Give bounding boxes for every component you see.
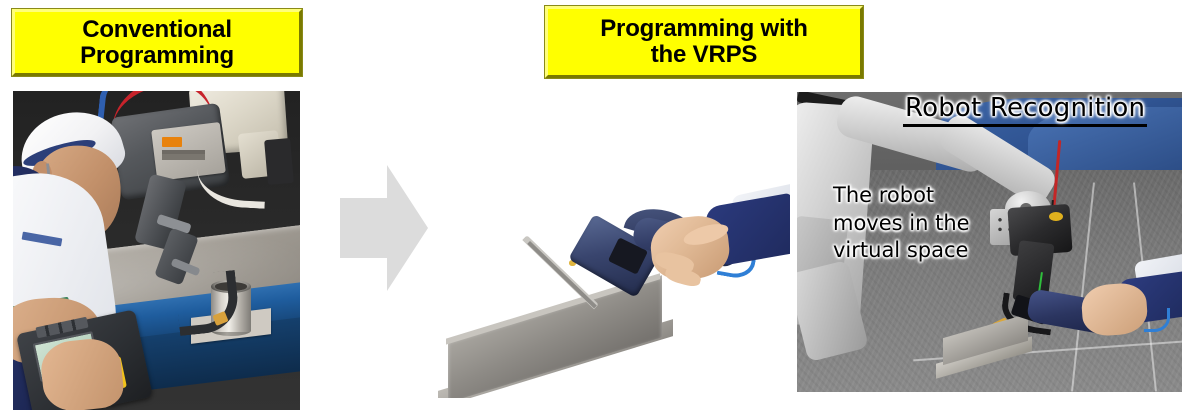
- banner-left-text: Conventional Programming: [80, 17, 234, 69]
- ar-caption-line3: virtual space: [833, 237, 970, 265]
- photo-vrps-device: [434, 183, 790, 398]
- virtual-torch-indicator: [1049, 212, 1062, 221]
- right-block-arrow-icon: [340, 165, 428, 291]
- banner-programming-with-vrps: Programming with the VRPS: [545, 6, 863, 78]
- banner-right-line2: the VRPS: [600, 42, 807, 68]
- ar-caption-line2: moves in the: [833, 210, 970, 238]
- ar-caption: The robot moves in the virtual space: [833, 182, 970, 265]
- banner-right-text: Programming with the VRPS: [600, 16, 807, 68]
- transition-arrow: [340, 165, 428, 291]
- photo-conventional-programming: [13, 91, 300, 410]
- banner-right-line1: Programming with: [600, 16, 807, 42]
- robot-mount-bracket: [264, 138, 294, 185]
- ar-caption-line1: The robot: [833, 182, 970, 210]
- ar-title: Robot Recognition: [903, 94, 1147, 127]
- photo-robot-recognition-ar: Robot Recognition The robot moves in the…: [797, 92, 1182, 392]
- banner-left-line1: Conventional: [80, 17, 234, 43]
- manufacturer-logo: [162, 137, 182, 147]
- banner-left-line2: Programming: [80, 43, 234, 69]
- banner-conventional-programming: Conventional Programming: [12, 9, 302, 76]
